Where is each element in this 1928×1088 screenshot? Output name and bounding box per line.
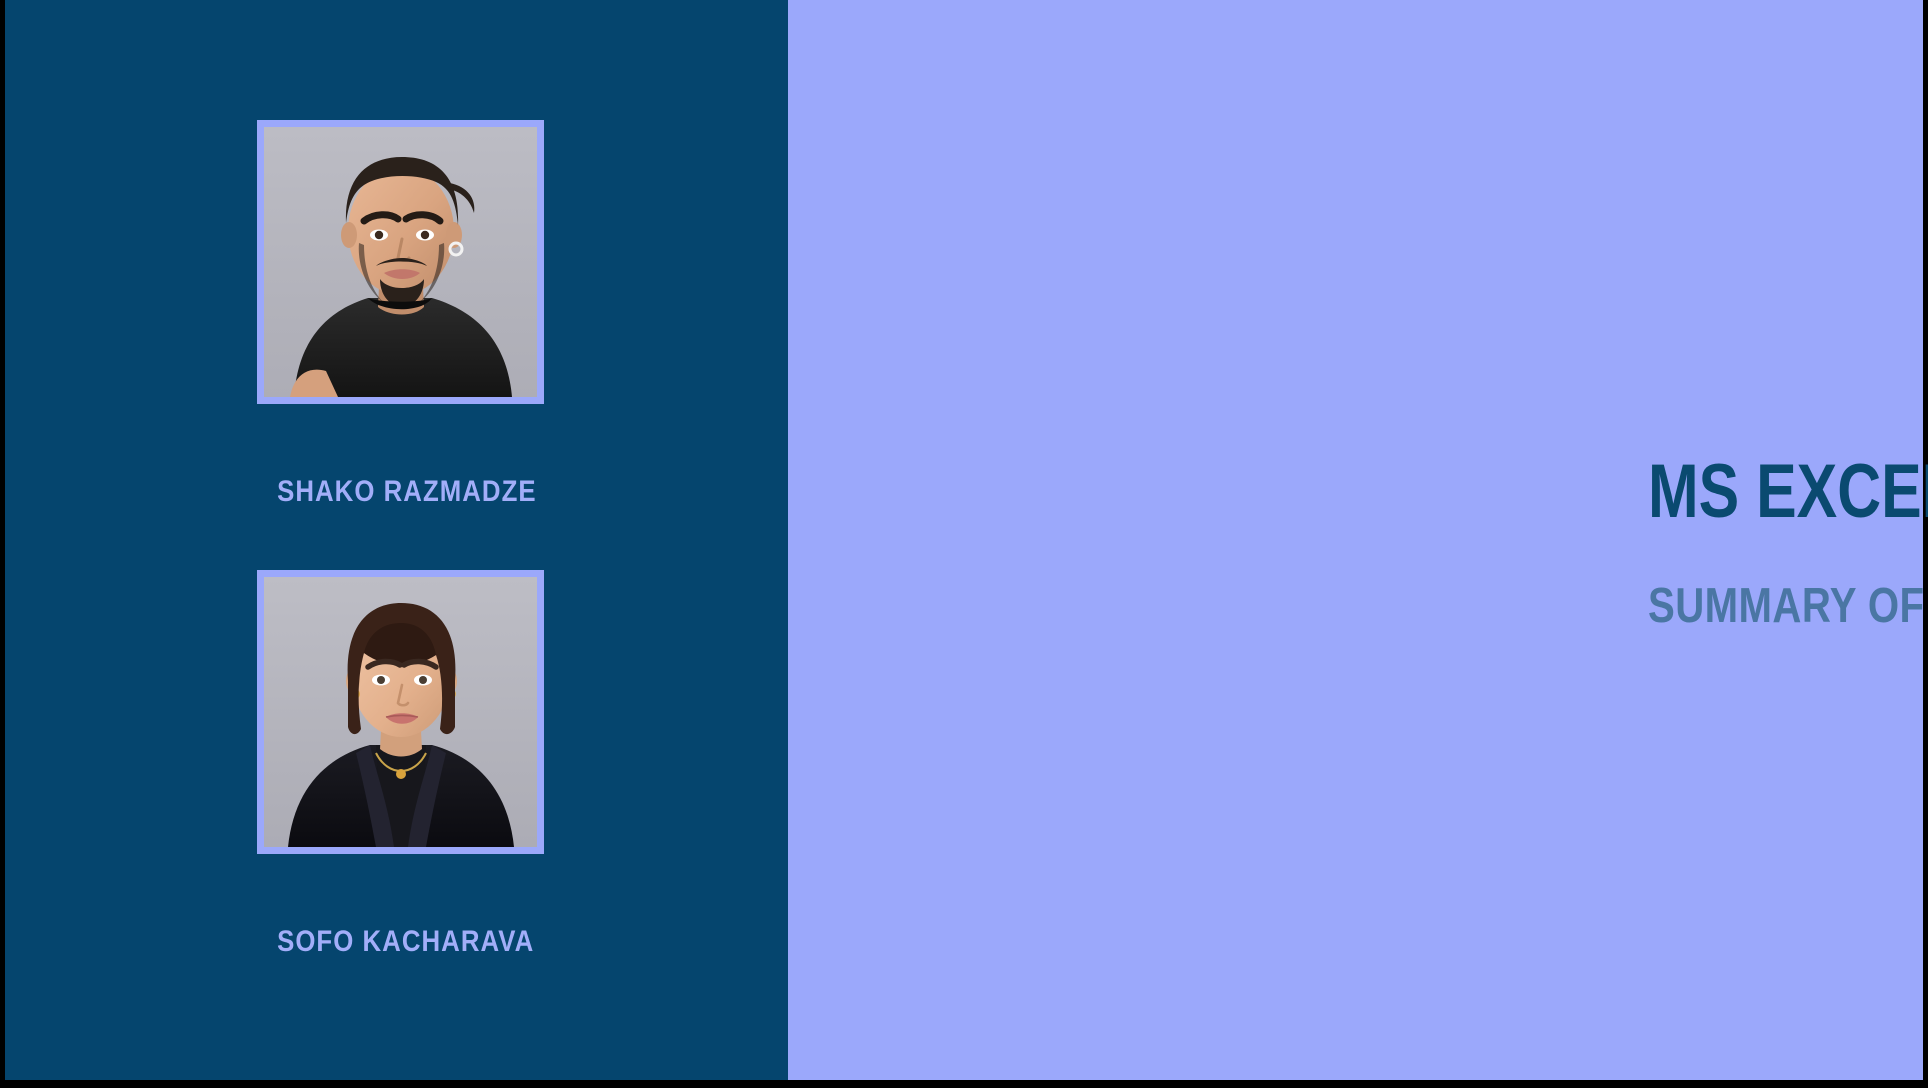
instructor-photo-frame xyxy=(257,120,544,404)
page-title: MS EXCEL xyxy=(1648,452,1928,532)
instructor-card: SOFO KACHARAVA xyxy=(257,570,544,854)
instructor-name: SOFO KACHARAVA xyxy=(277,925,524,959)
instructor-card: SHAKO RAZMADZE xyxy=(257,120,544,404)
slide-canvas: SHAKO RAZMADZE xyxy=(0,0,1928,1088)
instructor-photo xyxy=(264,577,537,847)
instructor-photo-frame xyxy=(257,570,544,854)
instructor-photo xyxy=(264,127,537,397)
portrait-illustration-shako xyxy=(264,127,537,397)
page-subtitle: SUMMARY OF THE COURSE xyxy=(1648,580,1928,632)
instructors-panel: SHAKO RAZMADZE xyxy=(5,0,788,1080)
portrait-illustration-sofo xyxy=(264,577,537,847)
course-panel: SMART xyxy=(788,0,1923,1080)
instructor-name: SHAKO RAZMADZE xyxy=(277,475,524,509)
